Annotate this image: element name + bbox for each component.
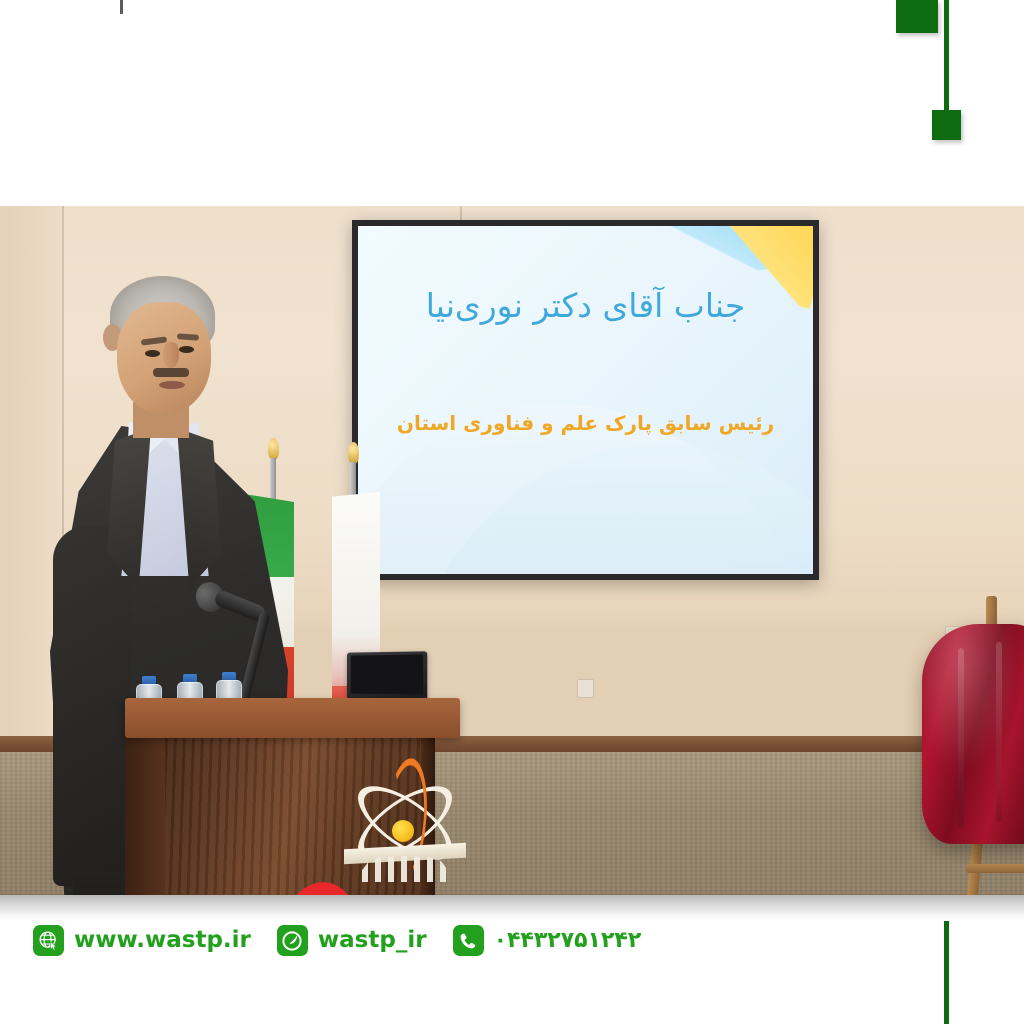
drape-fold (958, 648, 964, 828)
contact-phone[interactable]: ۰۴۴۳۲۷۵۱۲۴۲ (453, 925, 642, 956)
laptop (347, 651, 427, 700)
top-left-tick-decoration (120, 0, 123, 14)
slide-subtitle-text: رئیس سابق پارک علم و فناوری استان (358, 411, 813, 435)
projection-screen: جناب آقای دکتر نوری‌نیا رئیس سابق پارک ع… (352, 220, 819, 580)
speaker-eye (179, 346, 194, 353)
gear-icon (362, 856, 448, 882)
phone-icon[interactable] (453, 925, 484, 956)
podium-desktop (125, 698, 460, 738)
contact-website[interactable]: www.wastp.ir (33, 925, 251, 956)
eitaa-label[interactable]: wastp_ir (318, 929, 427, 952)
drape-fold (996, 642, 1002, 822)
phone-number-label[interactable]: ۰۴۴۳۲۷۵۱۲۴۲ (494, 930, 642, 952)
globe-website-icon[interactable] (33, 925, 64, 956)
contact-footer: www.wastp.ir wastp_ir ۰۴۴۳۲۷۵۱۲۴۲ (0, 920, 1024, 1024)
science-park-logo (340, 758, 470, 896)
green-square-top-decoration (896, 0, 938, 33)
eitaa-messenger-icon[interactable] (277, 925, 308, 956)
speaker-moustache (153, 368, 189, 377)
red-velvet-drape (922, 624, 1024, 844)
speaking-podium: پارک علم و فناوری آذربایجان غربی (125, 698, 460, 896)
speaker-mouth (159, 381, 185, 389)
easel-crossbar (966, 864, 1024, 873)
wall-outlet-icon (577, 679, 594, 698)
speaker-nose (163, 342, 179, 368)
photo-card: جناب آقای دکتر نوری‌نیا رئیس سابق پارک ع… (0, 0, 1024, 1024)
draped-unveiling-easel (934, 596, 1024, 896)
projection-slide: جناب آقای دکتر نوری‌نیا رئیس سابق پارک ع… (358, 226, 813, 574)
slide-title-text: جناب آقای دکتر نوری‌نیا (358, 286, 813, 325)
laptop-screen (351, 654, 423, 694)
event-photograph: جناب آقای دکتر نوری‌نیا رئیس سابق پارک ع… (0, 206, 1024, 896)
green-square-mid-decoration (932, 110, 961, 140)
atom-nucleus-icon (392, 820, 414, 842)
contact-eitaa[interactable]: wastp_ir (277, 925, 427, 956)
speaker-arm (53, 526, 131, 886)
speaker-eye (145, 350, 160, 357)
photo-bottom-fade (0, 895, 1024, 921)
website-label[interactable]: www.wastp.ir (74, 929, 251, 952)
flag-finial-icon (348, 442, 359, 464)
podium-side-panel (125, 736, 167, 896)
